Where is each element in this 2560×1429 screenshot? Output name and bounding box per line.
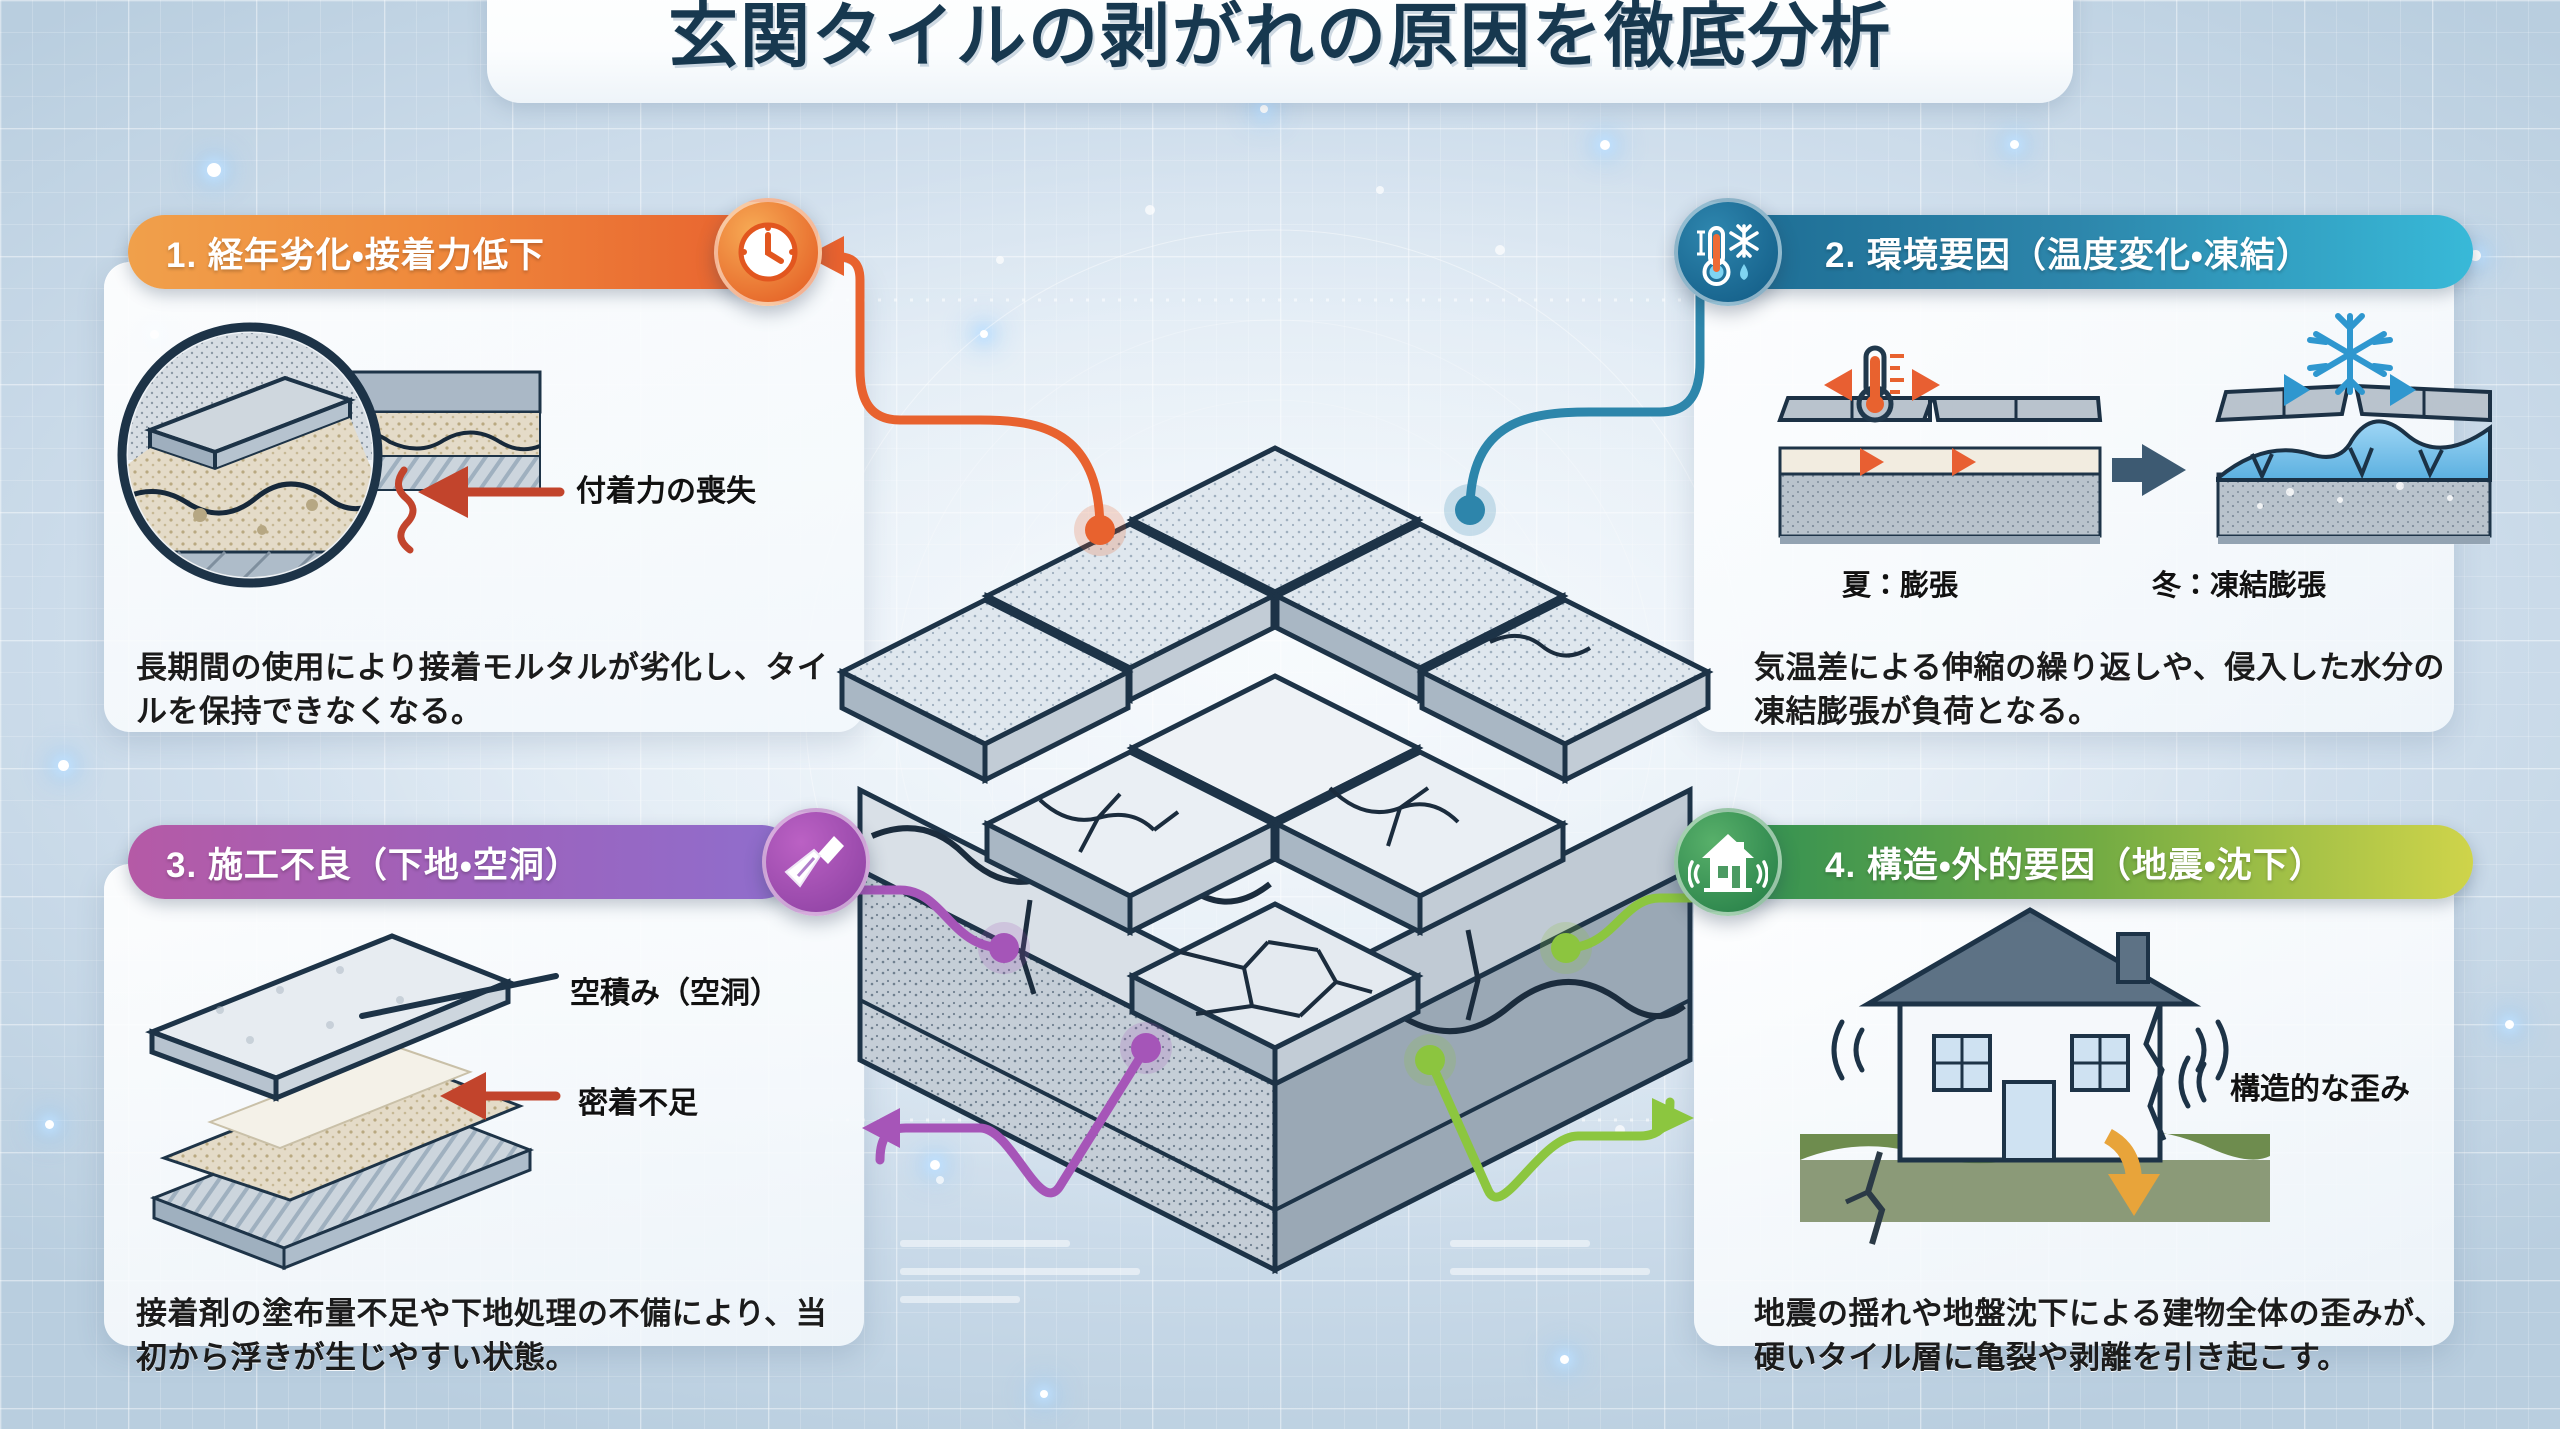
sparkle-dot (2010, 140, 2019, 149)
sparkle-dot (1260, 105, 1268, 113)
sparkle-dot (980, 330, 988, 338)
sparkle-dot (1040, 1390, 1048, 1398)
caption-summer-expansion: 夏：膨張 (1842, 562, 1958, 604)
caption-winter-freeze: 冬：凍結膨張 (2152, 562, 2326, 604)
sparkle-dot (2505, 1020, 2514, 1029)
card-body-2: 気温差による伸縮の繰り返しや、侵入した水分の凍結膨張が負荷となる。 (1754, 646, 2454, 734)
sparkle-dot (45, 1120, 54, 1129)
card-heading-3[interactable]: 3. 施工不良（下地・空洞） (128, 825, 798, 899)
shaking-house-icon (1674, 808, 1782, 916)
annotation-structural-distortion: 構造的な歪み (2230, 1064, 2410, 1108)
title-plate: 玄関タイルの剥がれの原因を徹底分析 (487, 0, 2073, 103)
card-body-3: 接着剤の塗布量不足や下地処理の不備により、当初から浮きが生じやすい状態。 (136, 1292, 836, 1380)
card-body-1: 長期間の使用により接着モルタルが劣化し、タイルを保持できなくなる。 (136, 646, 836, 734)
card-heading-2[interactable]: 2. 環境要因（温度変化・凍結） (1713, 215, 2473, 289)
page-title: 玄関タイルの剥がれの原因を徹底分析 (668, 0, 1892, 103)
sparkle-dot (1560, 1355, 1569, 1364)
sparkle-dot (930, 1160, 940, 1170)
card-panel-3 (104, 864, 864, 1346)
thermometer-snowflake-icon (1674, 198, 1782, 306)
sparkle-dot (207, 163, 221, 177)
card-heading-4[interactable]: 4. 構造・外的要因（地震・沈下） (1713, 825, 2473, 899)
sparkle-dot (58, 760, 69, 771)
clock-icon (714, 198, 822, 306)
annotation-hollow-void: 空積み（空洞） (570, 968, 780, 1012)
sparkle-dot (1600, 140, 1610, 150)
card-body-4: 地震の揺れや地盤沈下による建物全体の歪みが、硬いタイル層に亀裂や剥離を引き起こす… (1754, 1292, 2454, 1380)
card-heading-1[interactable]: 1. 経年劣化・接着力低下 (128, 215, 768, 289)
annotation-poor-adhesion: 密着不足 (578, 1078, 698, 1122)
annotation-adhesion-loss: 付着力の喪失 (576, 466, 756, 510)
trowel-icon (762, 808, 870, 916)
